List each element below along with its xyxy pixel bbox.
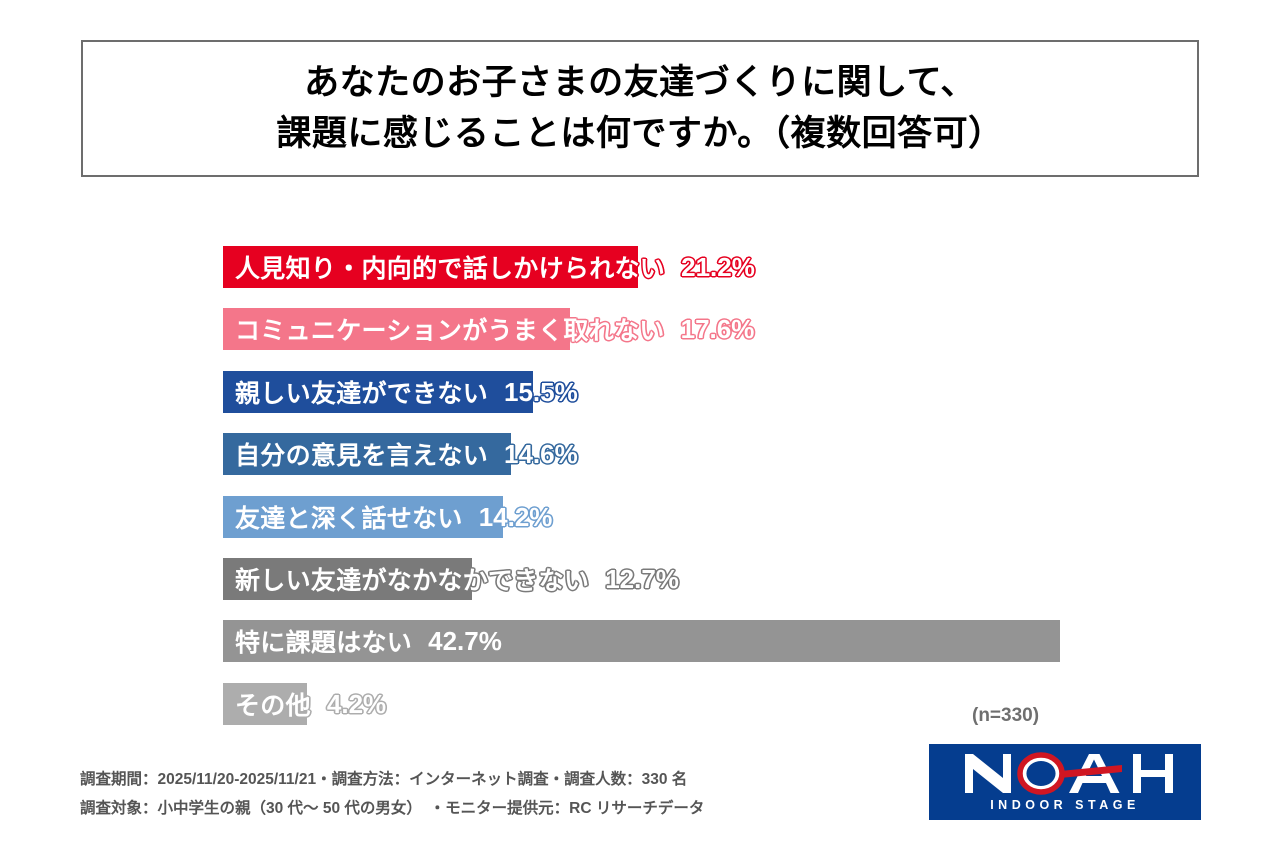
bar-value-label: 14.6% — [504, 439, 578, 470]
bar-category-label: その他 — [235, 686, 311, 722]
horizontal-bar-chart: 人見知り・内向的で話しかけられない21.2%コミュニケーションがうまく取れない1… — [0, 0, 1280, 853]
bar-caption: 自分の意見を言えない14.6% — [235, 433, 578, 475]
bar-caption: コミュニケーションがうまく取れない17.6% — [235, 308, 754, 350]
bar-caption: 親しい友達ができない15.5% — [235, 371, 578, 413]
bar-category-label: 友達と深く話せない — [235, 499, 463, 535]
bar-value-label: 14.2% — [479, 502, 553, 533]
bar-category-label: 自分の意見を言えない — [235, 436, 488, 472]
bar-value-label: 4.2% — [327, 689, 386, 720]
bar-caption: 友達と深く話せない14.2% — [235, 496, 552, 538]
bar-caption: 人見知り・内向的で話しかけられない21.2% — [235, 246, 755, 288]
bar-category-label: 新しい友達がなかなかできない — [235, 561, 589, 597]
bar-category-label: コミュニケーションがうまく取れない — [235, 311, 665, 347]
noah-logo: INDOOR STAGE — [929, 744, 1201, 820]
survey-methodology-notes: 調査期間：2025/11/20-2025/11/21・調査方法：インターネット調… — [80, 766, 740, 823]
bar-caption: 新しい友達がなかなかできない12.7% — [235, 558, 679, 600]
bar-value-label: 15.5% — [504, 377, 578, 408]
footer-line-period: 調査期間：2025/11/20-2025/11/21・調査方法：インターネット調… — [80, 766, 740, 795]
bar-category-label: 特に課題はない — [235, 623, 412, 659]
bar-value-label: 12.7% — [605, 564, 679, 595]
bar-category-label: 親しい友達ができない — [235, 374, 488, 410]
noah-wordmark-icon — [929, 744, 1201, 804]
bar-value-label: 17.6% — [681, 314, 755, 345]
bar-value-label: 21.2% — [681, 252, 755, 283]
bar-caption: その他4.2% — [235, 683, 386, 725]
noah-tagline: INDOOR STAGE — [929, 799, 1201, 812]
sample-size-label: (n=330) — [972, 705, 1039, 727]
bar-value-label: 42.7% — [428, 626, 502, 657]
bar-category-label: 人見知り・内向的で話しかけられない — [235, 249, 665, 285]
bar-caption: 特に課題はない42.7% — [235, 620, 502, 662]
footer-line-target: 調査対象：小中学生の親（30 代〜 50 代の男女） ・モニター提供元：RC リ… — [80, 795, 740, 824]
